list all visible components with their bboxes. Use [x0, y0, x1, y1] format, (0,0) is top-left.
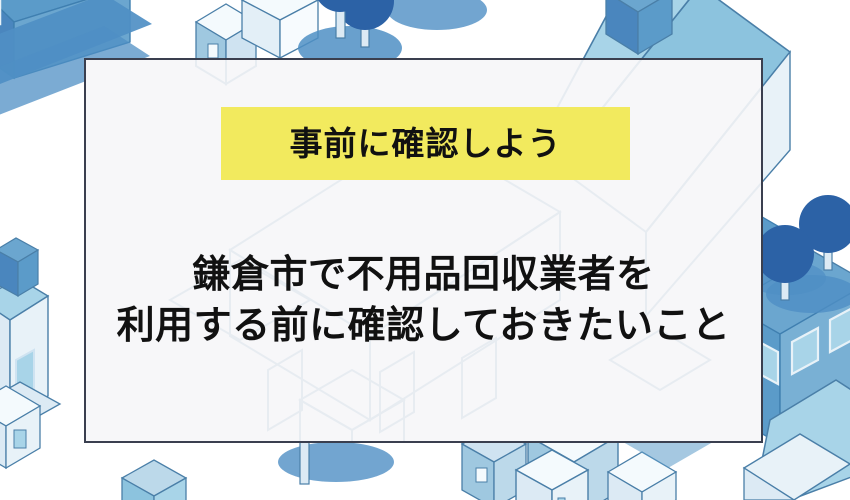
page-title-line-2: 利用する前に確認しておきたいこと	[86, 301, 761, 352]
card-inner: 事前に確認しよう 鎌倉市で不用品回収業者を 利用する前に確認しておきたいこと	[86, 60, 761, 441]
page-title: 鎌倉市で不用品回収業者を 利用する前に確認しておきたいこと	[86, 250, 761, 352]
slide-canvas: 事前に確認しよう 鎌倉市で不用品回収業者を 利用する前に確認しておきたいこと	[0, 0, 850, 500]
page-title-line-1: 鎌倉市で不用品回収業者を	[86, 250, 761, 301]
content-card: 事前に確認しよう 鎌倉市で不用品回収業者を 利用する前に確認しておきたいこと	[84, 58, 763, 443]
eyebrow-highlight-band: 事前に確認しよう	[221, 107, 630, 180]
eyebrow-label: 事前に確認しよう	[290, 127, 562, 160]
